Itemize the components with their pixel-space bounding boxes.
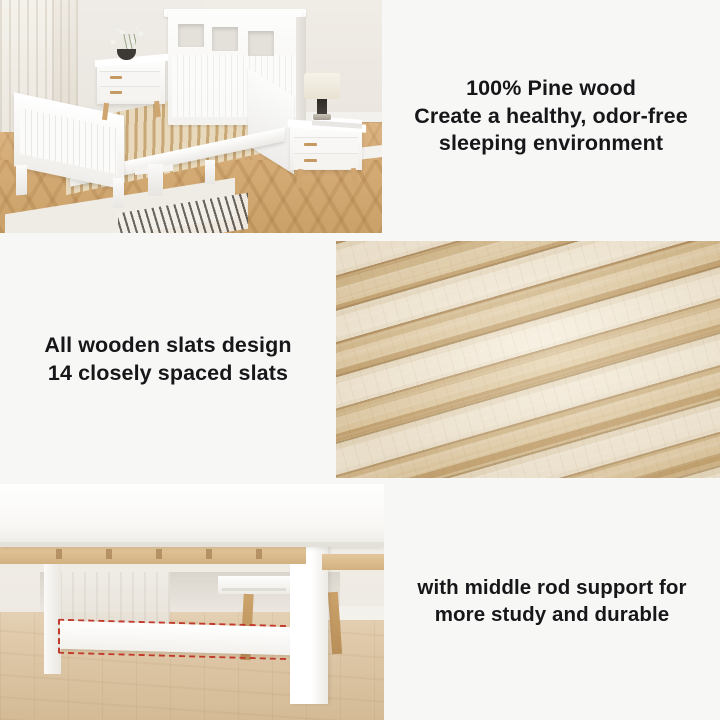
photo-under-bed-support: [0, 484, 384, 720]
nightstand-body: [218, 576, 290, 594]
left-nightstand-handle-1: [110, 76, 122, 79]
caption-slats: All wooden slats design 14 closely space…: [0, 241, 336, 478]
bed-apron-edge: [0, 542, 384, 547]
left-nightstand-drawer-2: [100, 86, 160, 101]
table-lamp-foot: [313, 114, 331, 120]
bed-leg-front-right: [113, 178, 124, 208]
right-nightstand-handle-2: [304, 159, 317, 162]
table-lamp-shade: [304, 73, 340, 99]
product-feature-collage: 100% Pine wood Create a healthy, odor-fr…: [0, 0, 720, 720]
nightstand-drawer-line: [222, 588, 286, 591]
photo-bedroom-scene: [0, 0, 382, 233]
center-support-leg: [148, 164, 163, 196]
headboard-cubby-2: [212, 27, 238, 51]
caption-slats-text: All wooden slats design 14 closely space…: [44, 332, 291, 388]
photo-slats-closeup: [336, 241, 720, 478]
bed-leg-front-left: [16, 165, 27, 196]
caption-pine-wood-text: 100% Pine wood Create a healthy, odor-fr…: [414, 75, 688, 159]
caption-middle-rod: with middle rod support for more study a…: [384, 484, 720, 720]
headboard-cubby-1: [178, 24, 204, 47]
highlight-dashed-rectangle: [58, 619, 296, 661]
headboard-cubby-3: [248, 31, 274, 56]
caption-pine-wood: 100% Pine wood Create a healthy, odor-fr…: [382, 0, 720, 233]
dowel-pegs: [14, 549, 304, 559]
left-nightstand-handle-2: [110, 91, 122, 94]
pine-side-rail-right: [322, 554, 384, 570]
right-nightstand-handle-1: [304, 143, 317, 146]
caption-middle-rod-text: with middle rod support for more study a…: [417, 575, 686, 628]
left-nightstand-drawer-1: [100, 71, 160, 86]
photo-lighting: [336, 241, 720, 478]
bed-apron: [0, 484, 384, 546]
bed-leg-rear: [205, 160, 215, 184]
